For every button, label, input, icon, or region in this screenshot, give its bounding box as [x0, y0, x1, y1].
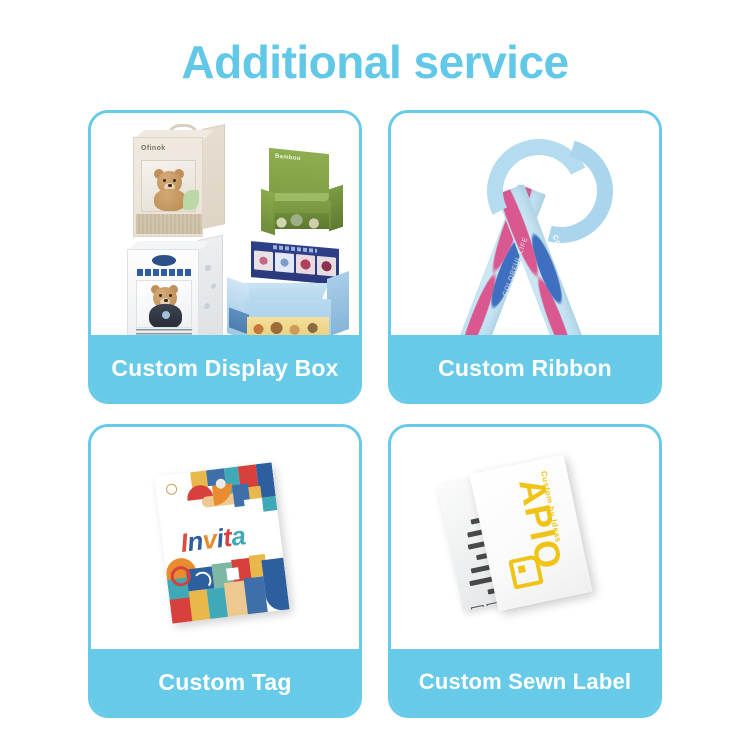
- white-box-title-print: [137, 269, 191, 276]
- blue-display-front-artwork: [247, 317, 329, 335]
- card-label-custom-sewn-label: Custom Sewn Label: [391, 649, 659, 715]
- green-display-header-text: Bamboo: [275, 153, 301, 162]
- card-media-display-box: Ofinok: [91, 113, 359, 335]
- white-box-window-cutout: [136, 280, 192, 328]
- box-leaf-graphic: [183, 190, 199, 210]
- label-brand-mark-icon: [508, 554, 544, 590]
- green-display-right-wall: [329, 185, 343, 232]
- printed-ribbon-image: COLORFUL LIFE COLORFUL LIFE: [391, 113, 659, 335]
- card-media-sewn-label: APIO Custom by Ideas: [391, 427, 659, 649]
- white-box-front-panel: [127, 249, 199, 335]
- page-root: Additional service Ofinok: [0, 0, 750, 750]
- service-card-custom-ribbon[interactable]: COLORFUL LIFE COLORFUL LIFE Custom Ribbo…: [388, 110, 662, 404]
- service-card-grid: Ofinok: [88, 110, 662, 718]
- teddy-bear-figure: [147, 283, 185, 327]
- display-box-photo-collage: Ofinok: [91, 113, 359, 335]
- white-box-footer-print: [136, 329, 192, 335]
- hang-tag-image: Invita: [154, 462, 289, 623]
- card-media-tag: Invita: [91, 427, 359, 649]
- page-title: Additional service: [0, 34, 750, 90]
- card-media-ribbon: COLORFUL LIFE COLORFUL LIFE: [391, 113, 659, 335]
- box-bottom-print-band: [136, 214, 202, 234]
- white-window-box-image: [127, 245, 223, 335]
- box-side-panel: [202, 124, 225, 229]
- blue-display-header-photo-strip: [254, 250, 336, 276]
- service-card-custom-tag[interactable]: Invita Custom Tag: [88, 424, 362, 718]
- blue-display-header-card: [251, 241, 339, 285]
- card-label-custom-ribbon: Custom Ribbon: [391, 335, 659, 401]
- white-box-side-panel: [198, 235, 223, 335]
- card-label-custom-display-box: Custom Display Box: [91, 335, 359, 401]
- green-counter-display-box-image: Bamboo: [261, 151, 343, 241]
- blue-counter-display-box-image: [227, 245, 351, 335]
- beige-window-box-image: Ofinok: [133, 135, 225, 239]
- service-card-custom-sewn-label[interactable]: APIO Custom by Ideas Custom Sewn Label: [388, 424, 662, 718]
- box-brand-text: Ofinok: [141, 145, 166, 152]
- service-card-custom-display-box[interactable]: Ofinok: [88, 110, 362, 404]
- green-display-front-artwork: [275, 213, 329, 229]
- card-label-custom-tag: Custom Tag: [91, 649, 359, 715]
- white-box-badge: [152, 255, 176, 266]
- box-front-panel: Ofinok: [133, 137, 203, 237]
